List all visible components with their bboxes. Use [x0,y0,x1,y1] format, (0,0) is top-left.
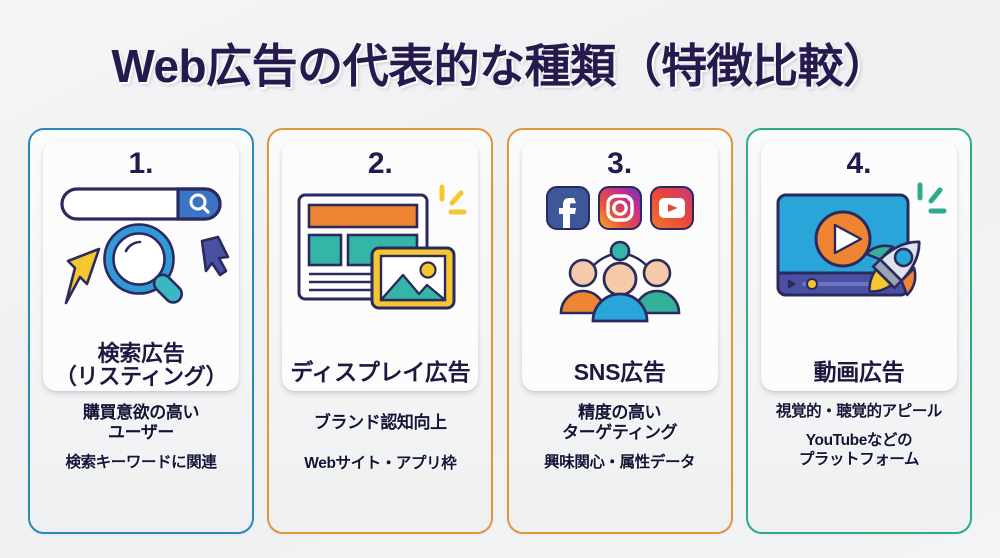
facebook-icon [547,187,589,229]
card-desc-4b: YouTubeなどの プラットフォーム [752,432,966,469]
card-number-4: 4. [846,149,871,179]
video-player-rocket-icon [764,181,954,313]
instagram-icon [599,187,641,229]
card-desc-4b-line1: YouTubeなどの [806,432,913,449]
card-number-2: 2. [368,149,393,179]
card-desc-1b: 検索キーワードに関連 [34,454,248,472]
card-label-4: 動画広告 [761,360,957,385]
card-descriptions-3: 精度の高い ターゲティング 興味関心・属性データ [513,403,727,472]
card-desc-3b: 興味関心・属性データ [513,454,727,472]
card-inner-2: 2. [282,141,478,391]
card-video-ads[interactable]: 4. [746,128,972,534]
card-desc-1a: 購買意欲の高い ユーザー [34,403,248,443]
page-title: Web広告の代表的な種類（特徴比較） [111,30,888,96]
card-desc-1a-line1: 購買意欲の高い [83,403,199,422]
card-desc-3a: 精度の高い ターゲティング [513,403,727,443]
youtube-icon [651,187,693,229]
webpage-banner-image-icon [285,181,475,313]
card-desc-1a-line2: ユーザー [108,423,174,442]
card-display-ads[interactable]: 2. [267,128,493,534]
card-sns-ads[interactable]: 3. [507,128,733,534]
card-number-3: 3. [607,149,632,179]
card-number-1: 1. [128,149,153,179]
infographic-root: Web広告の代表的な種類（特徴比較） 1. [0,0,1000,558]
card-label-1-line2: （リスティング） [43,365,239,389]
card-desc-2a: ブランド認知向上 [273,413,487,433]
card-inner-3: 3. [522,141,718,391]
card-desc-4a: 視覚的・聴覚的アピール [752,403,966,421]
card-desc-2b: Webサイト・アプリ枠 [273,455,487,473]
card-grid: 1. [28,128,972,534]
card-desc-3a-line2: ターゲティング [562,423,677,442]
card-label-1-line1: 検索広告 [98,341,185,366]
card-label-3: SNS広告 [522,360,718,385]
card-descriptions-4: 視覚的・聴覚的アピール YouTubeなどの プラットフォーム [752,403,966,469]
social-logos-people-group-icon [525,181,715,313]
card-label-1: 検索広告 （リスティング） [43,342,239,390]
card-inner-1: 1. [43,141,239,391]
card-descriptions-1: 購買意欲の高い ユーザー 検索キーワードに関連 [34,403,248,472]
title-container: Web広告の代表的な種類（特徴比較） [0,30,1000,96]
card-desc-4b-line2: プラットフォーム [799,451,919,468]
search-bar-magnifier-icon [46,181,236,313]
card-desc-3a-line1: 精度の高い [578,403,661,422]
card-search-ads[interactable]: 1. [28,128,254,534]
card-descriptions-2: ブランド認知向上 Webサイト・アプリ枠 [273,413,487,473]
card-label-2: ディスプレイ広告 [282,360,478,385]
card-inner-4: 4. [761,141,957,391]
